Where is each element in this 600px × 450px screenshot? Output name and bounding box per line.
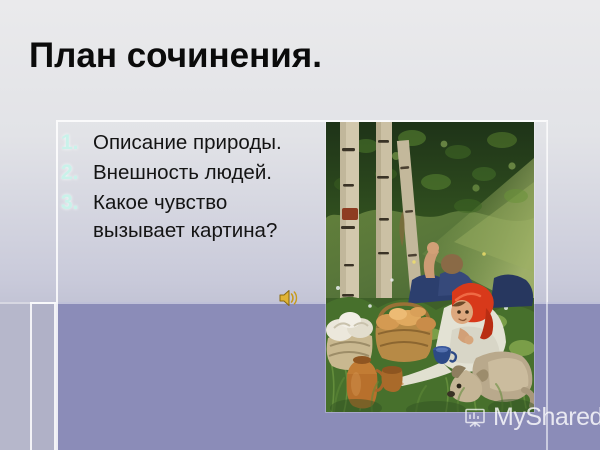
bottom-left-inner-band <box>30 302 56 450</box>
list-item-label: Какое чувство вызывает картина? <box>93 189 319 245</box>
list-item: 3. Какое чувство вызывает картина? <box>57 189 319 245</box>
slide-title: План сочинения. <box>29 36 322 76</box>
slide-picture <box>326 122 534 412</box>
painting-illustration <box>326 122 534 412</box>
presentation-slide: План сочинения. 1. Описание природы. 2. … <box>0 0 600 450</box>
list-item-number: 1. <box>57 129 93 157</box>
speaker-icon-glyph <box>278 288 300 308</box>
right-edge-line <box>547 120 548 302</box>
plan-list: 1. Описание природы. 2. Внешность людей.… <box>57 129 319 247</box>
speaker-icon[interactable] <box>278 288 300 308</box>
list-item-number: 2. <box>57 159 93 187</box>
list-item-label: Внешность людей. <box>93 159 272 187</box>
list-item-label: Описание природы. <box>93 129 282 157</box>
list-item: 2. Внешность людей. <box>57 159 319 187</box>
list-item-number: 3. <box>57 189 93 217</box>
list-item: 1. Описание природы. <box>57 129 319 157</box>
